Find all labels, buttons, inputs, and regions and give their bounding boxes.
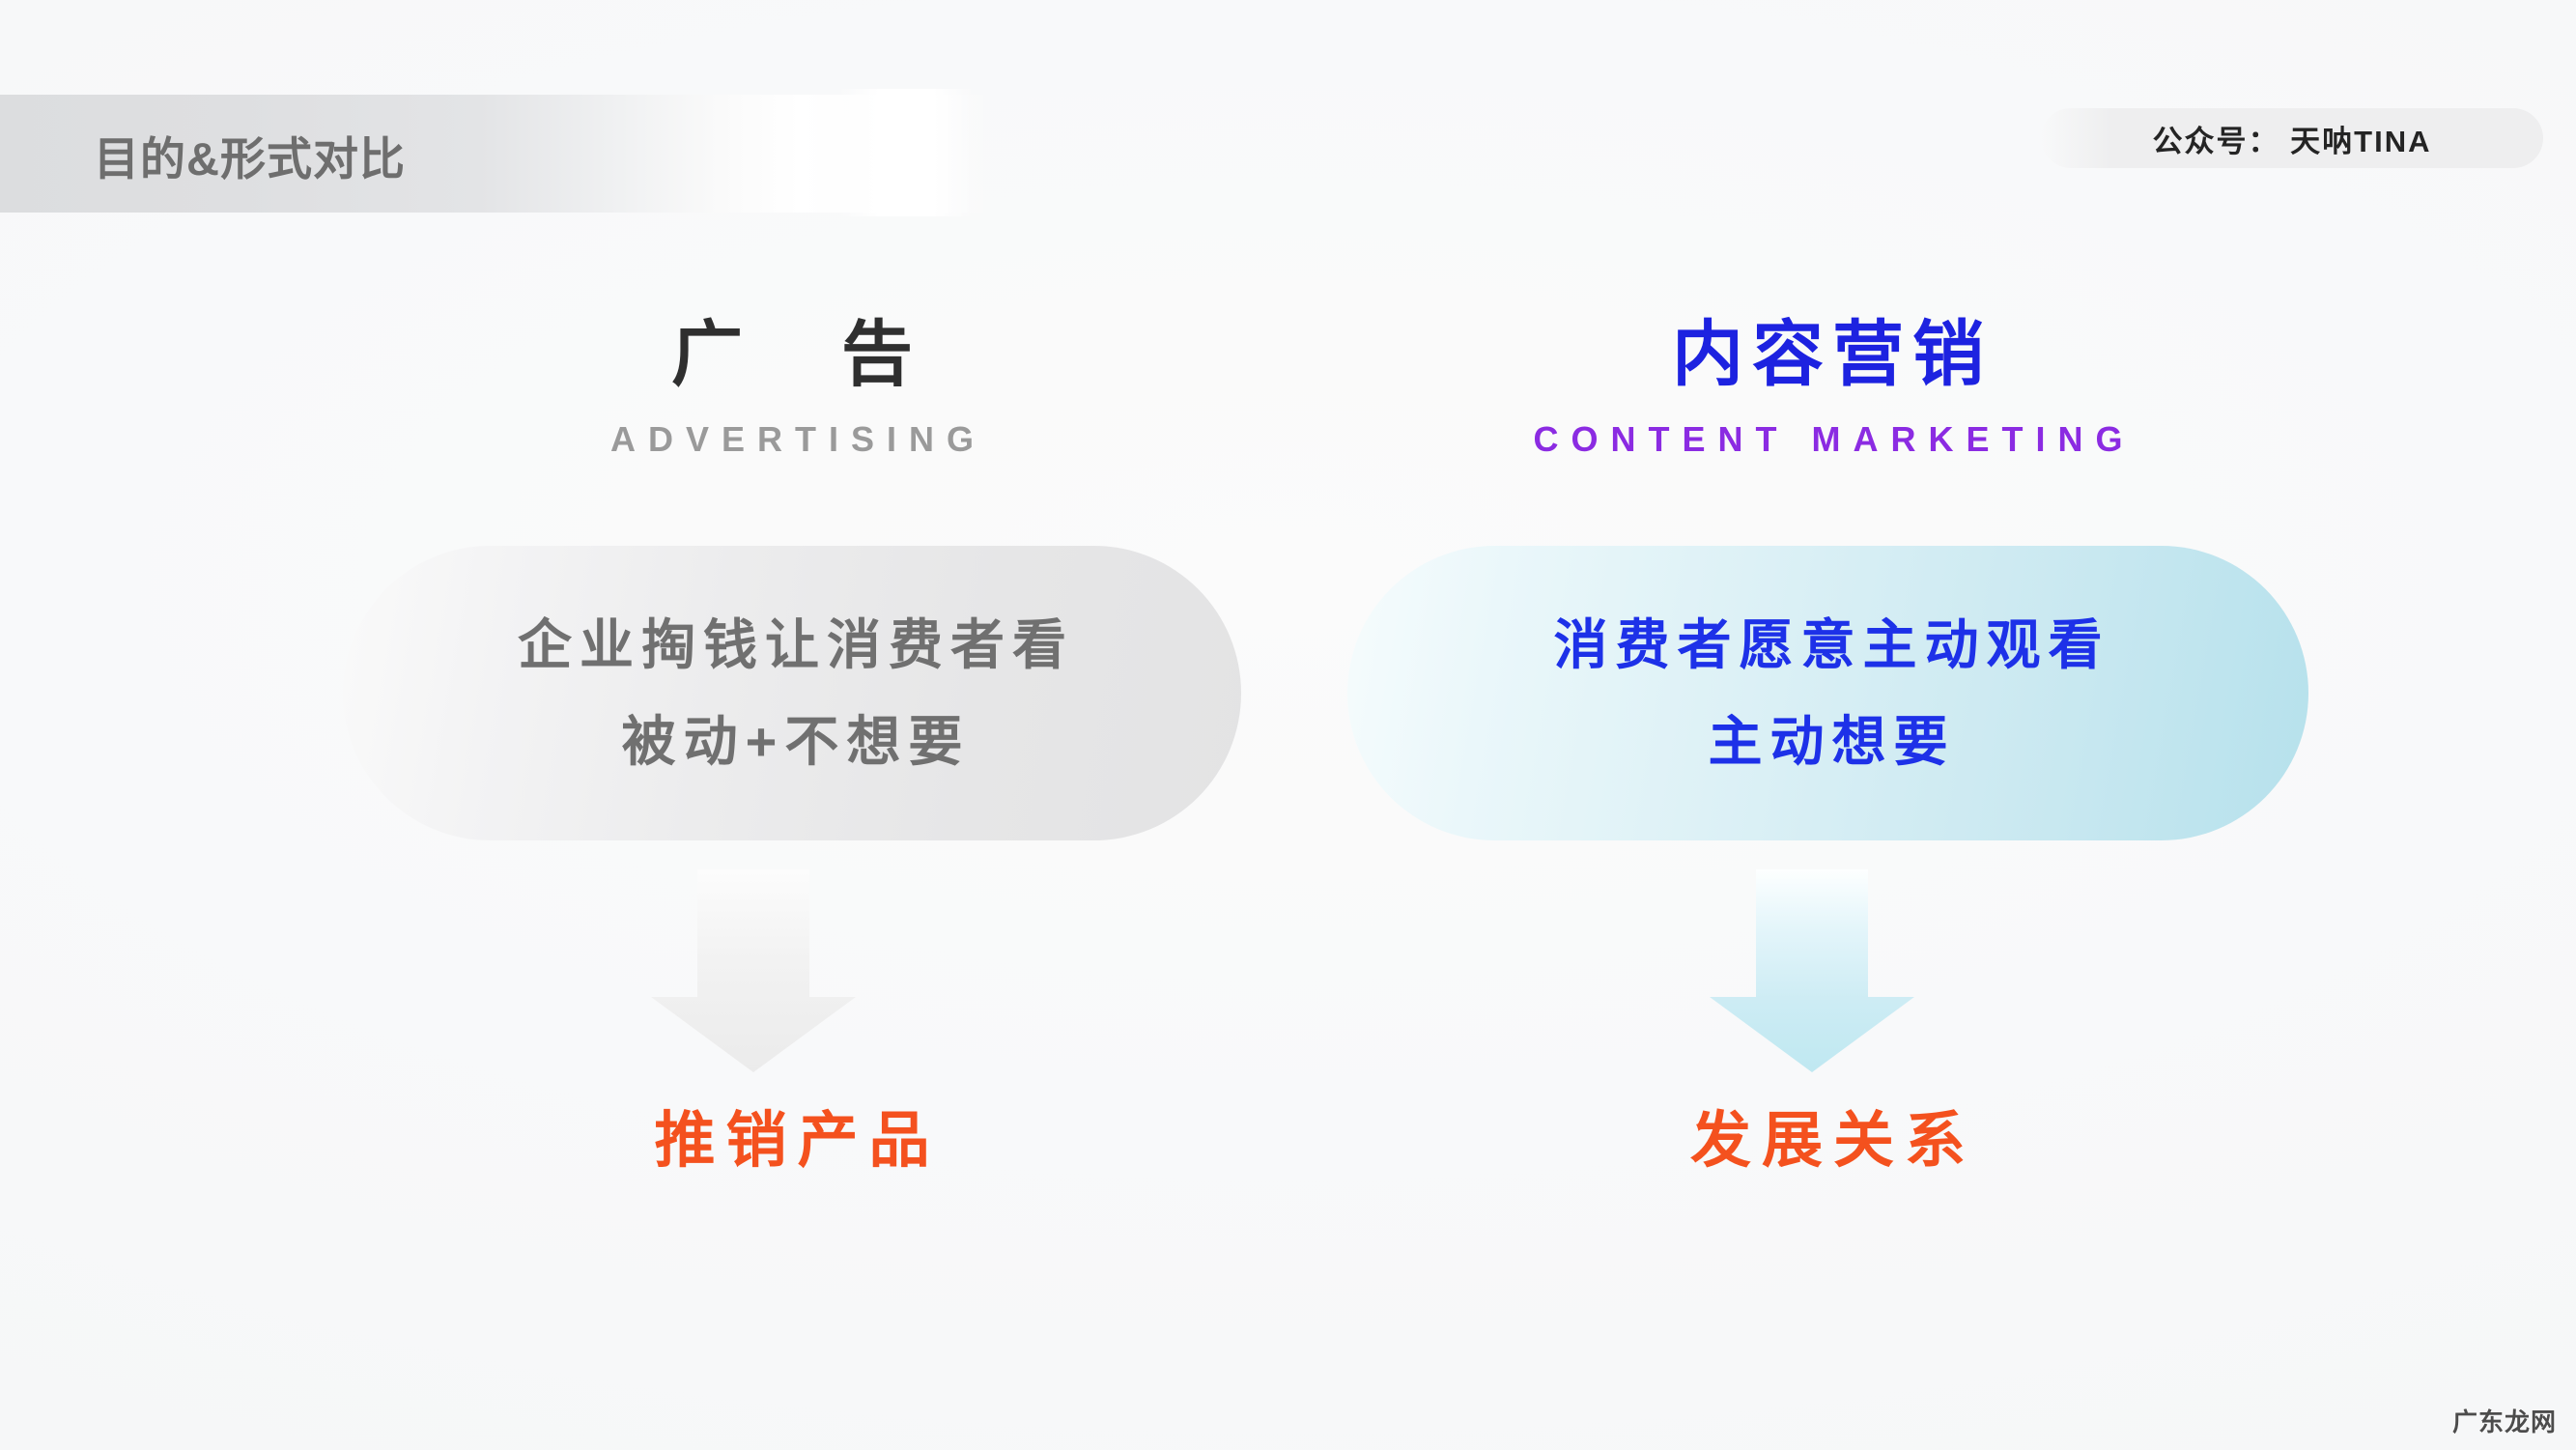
column-advertising-heading: 广告 ADVERTISING — [343, 319, 1241, 460]
content-marketing-outcome-label: 发展关系 — [1347, 1092, 2308, 1180]
content-marketing-message-card: 消费者愿意主动观看 主动想要 — [1347, 546, 2308, 840]
advertising-card-line-2: 被动+不想要 — [614, 715, 971, 769]
content-marketing-card-line-1: 消费者愿意主动观看 — [1546, 618, 2110, 672]
header-band-highlight — [838, 89, 974, 216]
wechat-account-label: 公众号： 天呐TINA — [2153, 117, 2432, 160]
wechat-account-badge: 公众号： 天呐TINA — [2041, 108, 2543, 168]
advertising-card-line-1: 企业掏钱让消费者看 — [510, 618, 1074, 672]
slide-canvas: 目的&形式对比 公众号： 天呐TINA 广告 ADVERTISING 企业掏钱让… — [0, 0, 2576, 1450]
content-marketing-card-line-2: 主动想要 — [1701, 715, 1956, 769]
column-content-marketing-heading: 内容营销 CONTENT MARKETING — [1347, 319, 2308, 460]
watermark: 广东龙网 — [2452, 1403, 2557, 1438]
advertising-title-en: ADVERTISING — [343, 419, 1241, 460]
down-arrow-icon — [1710, 869, 1914, 1072]
advertising-outcome-label: 推销产品 — [343, 1092, 1241, 1180]
page-title: 目的&形式对比 — [94, 122, 406, 188]
advertising-title-cn: 广告 — [343, 319, 1241, 390]
content-marketing-title-en: CONTENT MARKETING — [1347, 419, 2308, 460]
down-arrow-icon — [651, 869, 856, 1072]
advertising-message-card: 企业掏钱让消费者看 被动+不想要 — [343, 546, 1241, 840]
content-marketing-title-cn: 内容营销 — [1347, 319, 2308, 390]
